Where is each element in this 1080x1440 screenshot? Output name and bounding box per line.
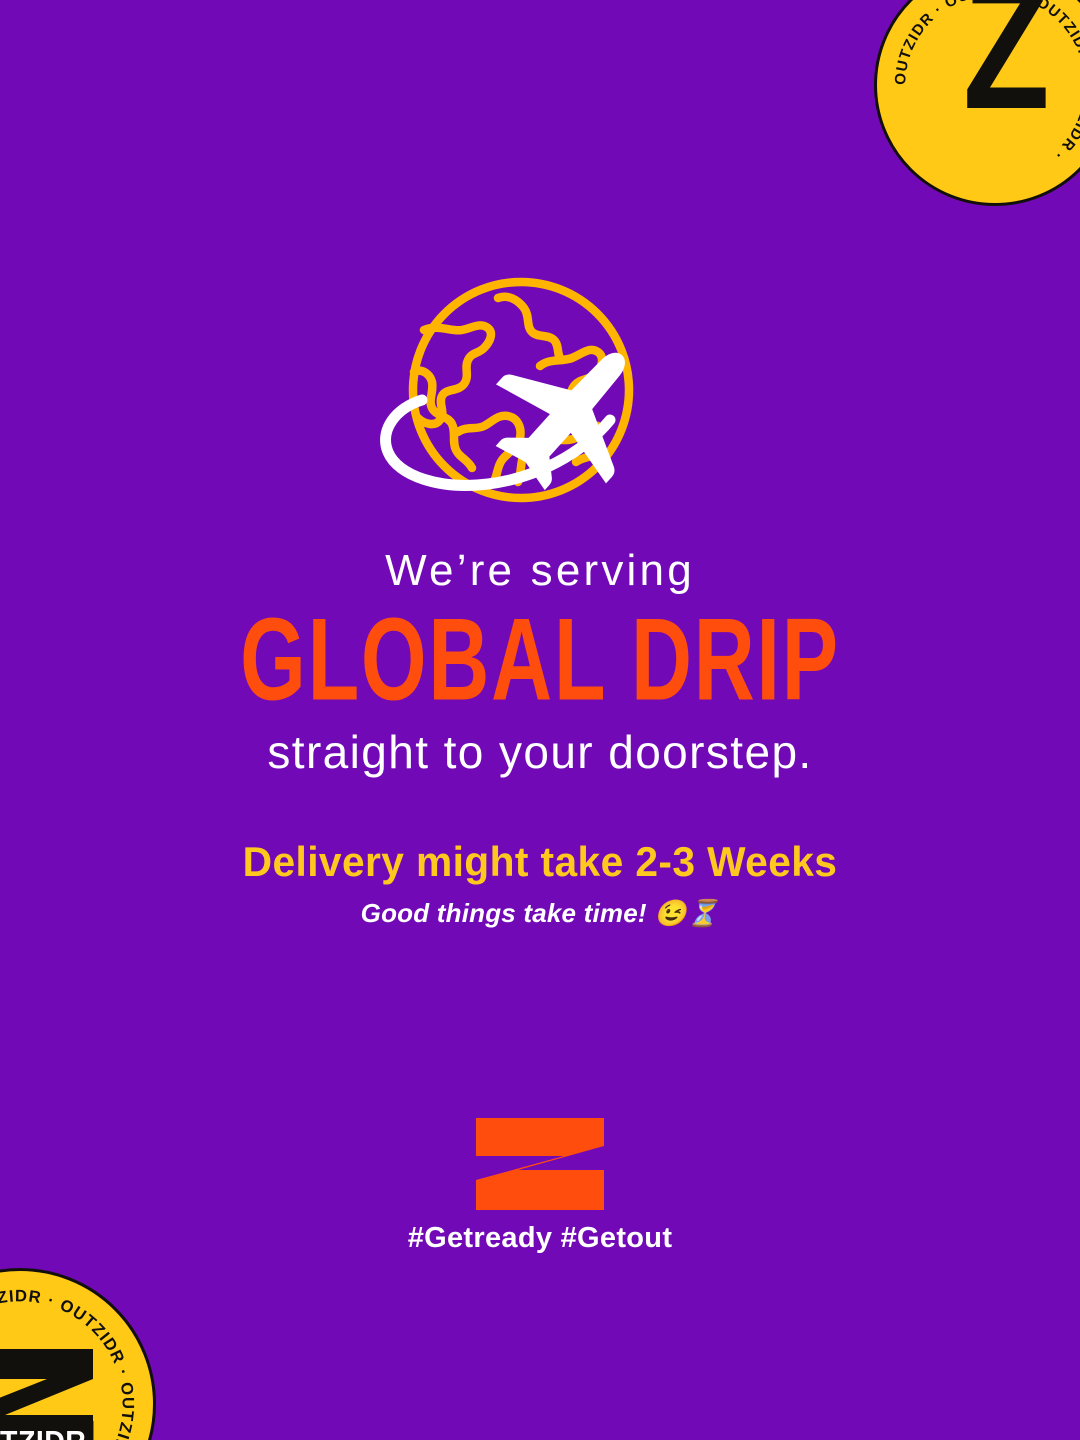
badge-top-right: OUTZIDR · OUTZIDR · OUTZIDR · OUTZIDR · … — [874, 0, 1080, 206]
brand-logo-z — [476, 1118, 604, 1210]
reassurance-text: Good things take time! 😉⏳ — [0, 898, 1080, 929]
hashtags-text: #Getready #Getout — [0, 1222, 1080, 1255]
delivery-note: Delivery might take 2-3 Weeks — [16, 838, 1064, 886]
footer-block: #Getready #Getout — [0, 1118, 1080, 1255]
badge-bottom-left: OUTZIDR · OUTZIDR · OUTZIDR · OUTZIDR · … — [0, 1268, 156, 1440]
page-title: GLOBAL DRIP — [65, 602, 1015, 719]
promo-poster: OUTZIDR · OUTZIDR · OUTZIDR · OUTZIDR · … — [0, 0, 1080, 1440]
badge-top-right-monogram: Z — [963, 0, 1048, 117]
eyebrow-text: We’re serving — [0, 548, 1080, 594]
globe-icon — [352, 272, 732, 517]
badge-bottom-left-wordmark: OUTZIDR — [0, 1421, 94, 1440]
globe-airplane-illustration — [352, 272, 732, 517]
copy-block: We’re serving GLOBAL DRIP straight to yo… — [0, 548, 1080, 929]
subhead-text: straight to your doorstep. — [0, 728, 1080, 776]
